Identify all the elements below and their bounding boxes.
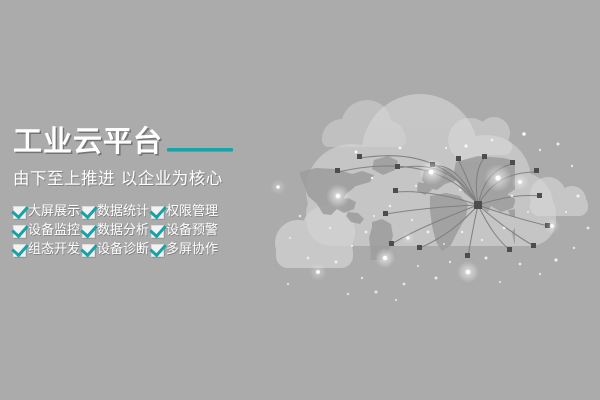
check-icon [82,225,95,238]
feature-label: 大屏展示 [28,204,80,220]
feature-item-configuration-development[interactable]: 组态开发 [13,242,82,258]
cloud-main [306,94,556,246]
page-subtitle: 由下至上推进 以企业为核心 [13,169,313,189]
check-icon [13,244,26,257]
feature-label: 数据分析 [97,223,149,239]
hero-copy: 工业云平台 由下至上推进 以企业为核心 大屏展示 数据统计 权限管理 [13,124,313,258]
feature-label: 数据统计 [97,204,149,220]
sparkle-particles [270,132,589,301]
network-nodes [335,154,550,258]
cloud-back-left [322,100,406,147]
feature-row: 组态开发 设备诊断 多屏协作 [13,242,313,258]
feature-label: 多屏协作 [166,242,218,258]
check-icon [82,206,95,219]
feature-label: 设备诊断 [97,242,149,258]
title-underline-rule [167,148,233,151]
feature-item-data-analysis[interactable]: 数据分析 [82,223,151,239]
cloud-top-right [448,117,512,162]
check-icon [13,225,26,238]
feature-item-device-alarm[interactable]: 设备预警 [151,223,220,239]
check-icon [151,206,164,219]
feature-label: 权限管理 [166,204,218,220]
check-icon [151,225,164,238]
feature-item-device-monitoring[interactable]: 设备监控 [13,223,82,239]
check-icon [151,244,164,257]
feature-item-device-diagnosis[interactable]: 设备诊断 [82,242,151,258]
feature-item-multi-screen-collaboration[interactable]: 多屏协作 [151,242,220,258]
check-icon [82,244,95,257]
feature-label: 设备预警 [166,223,218,239]
page-title: 工业云平台 [13,126,163,156]
feature-item-big-screen-display[interactable]: 大屏展示 [13,204,82,220]
network-hub-marker [474,201,482,209]
check-icon [13,206,26,219]
feature-row: 大屏展示 数据统计 权限管理 [13,204,313,220]
feature-grid: 大屏展示 数据统计 权限管理 设备监控 数据分析 [13,204,313,258]
feature-label: 组态开发 [28,242,80,258]
world-map [300,156,557,271]
cloud-right-small [530,177,588,216]
title-row: 工业云平台 [13,124,313,156]
feature-item-data-statistics[interactable]: 数据统计 [82,204,151,220]
hero-banner: 工业云平台 由下至上推进 以企业为核心 大屏展示 数据统计 权限管理 [0,0,600,400]
feature-row: 设备监控 数据分析 设备预警 [13,223,313,239]
feature-label: 设备监控 [28,223,80,239]
network-arcs [338,156,548,256]
feature-item-permission-management[interactable]: 权限管理 [151,204,220,220]
